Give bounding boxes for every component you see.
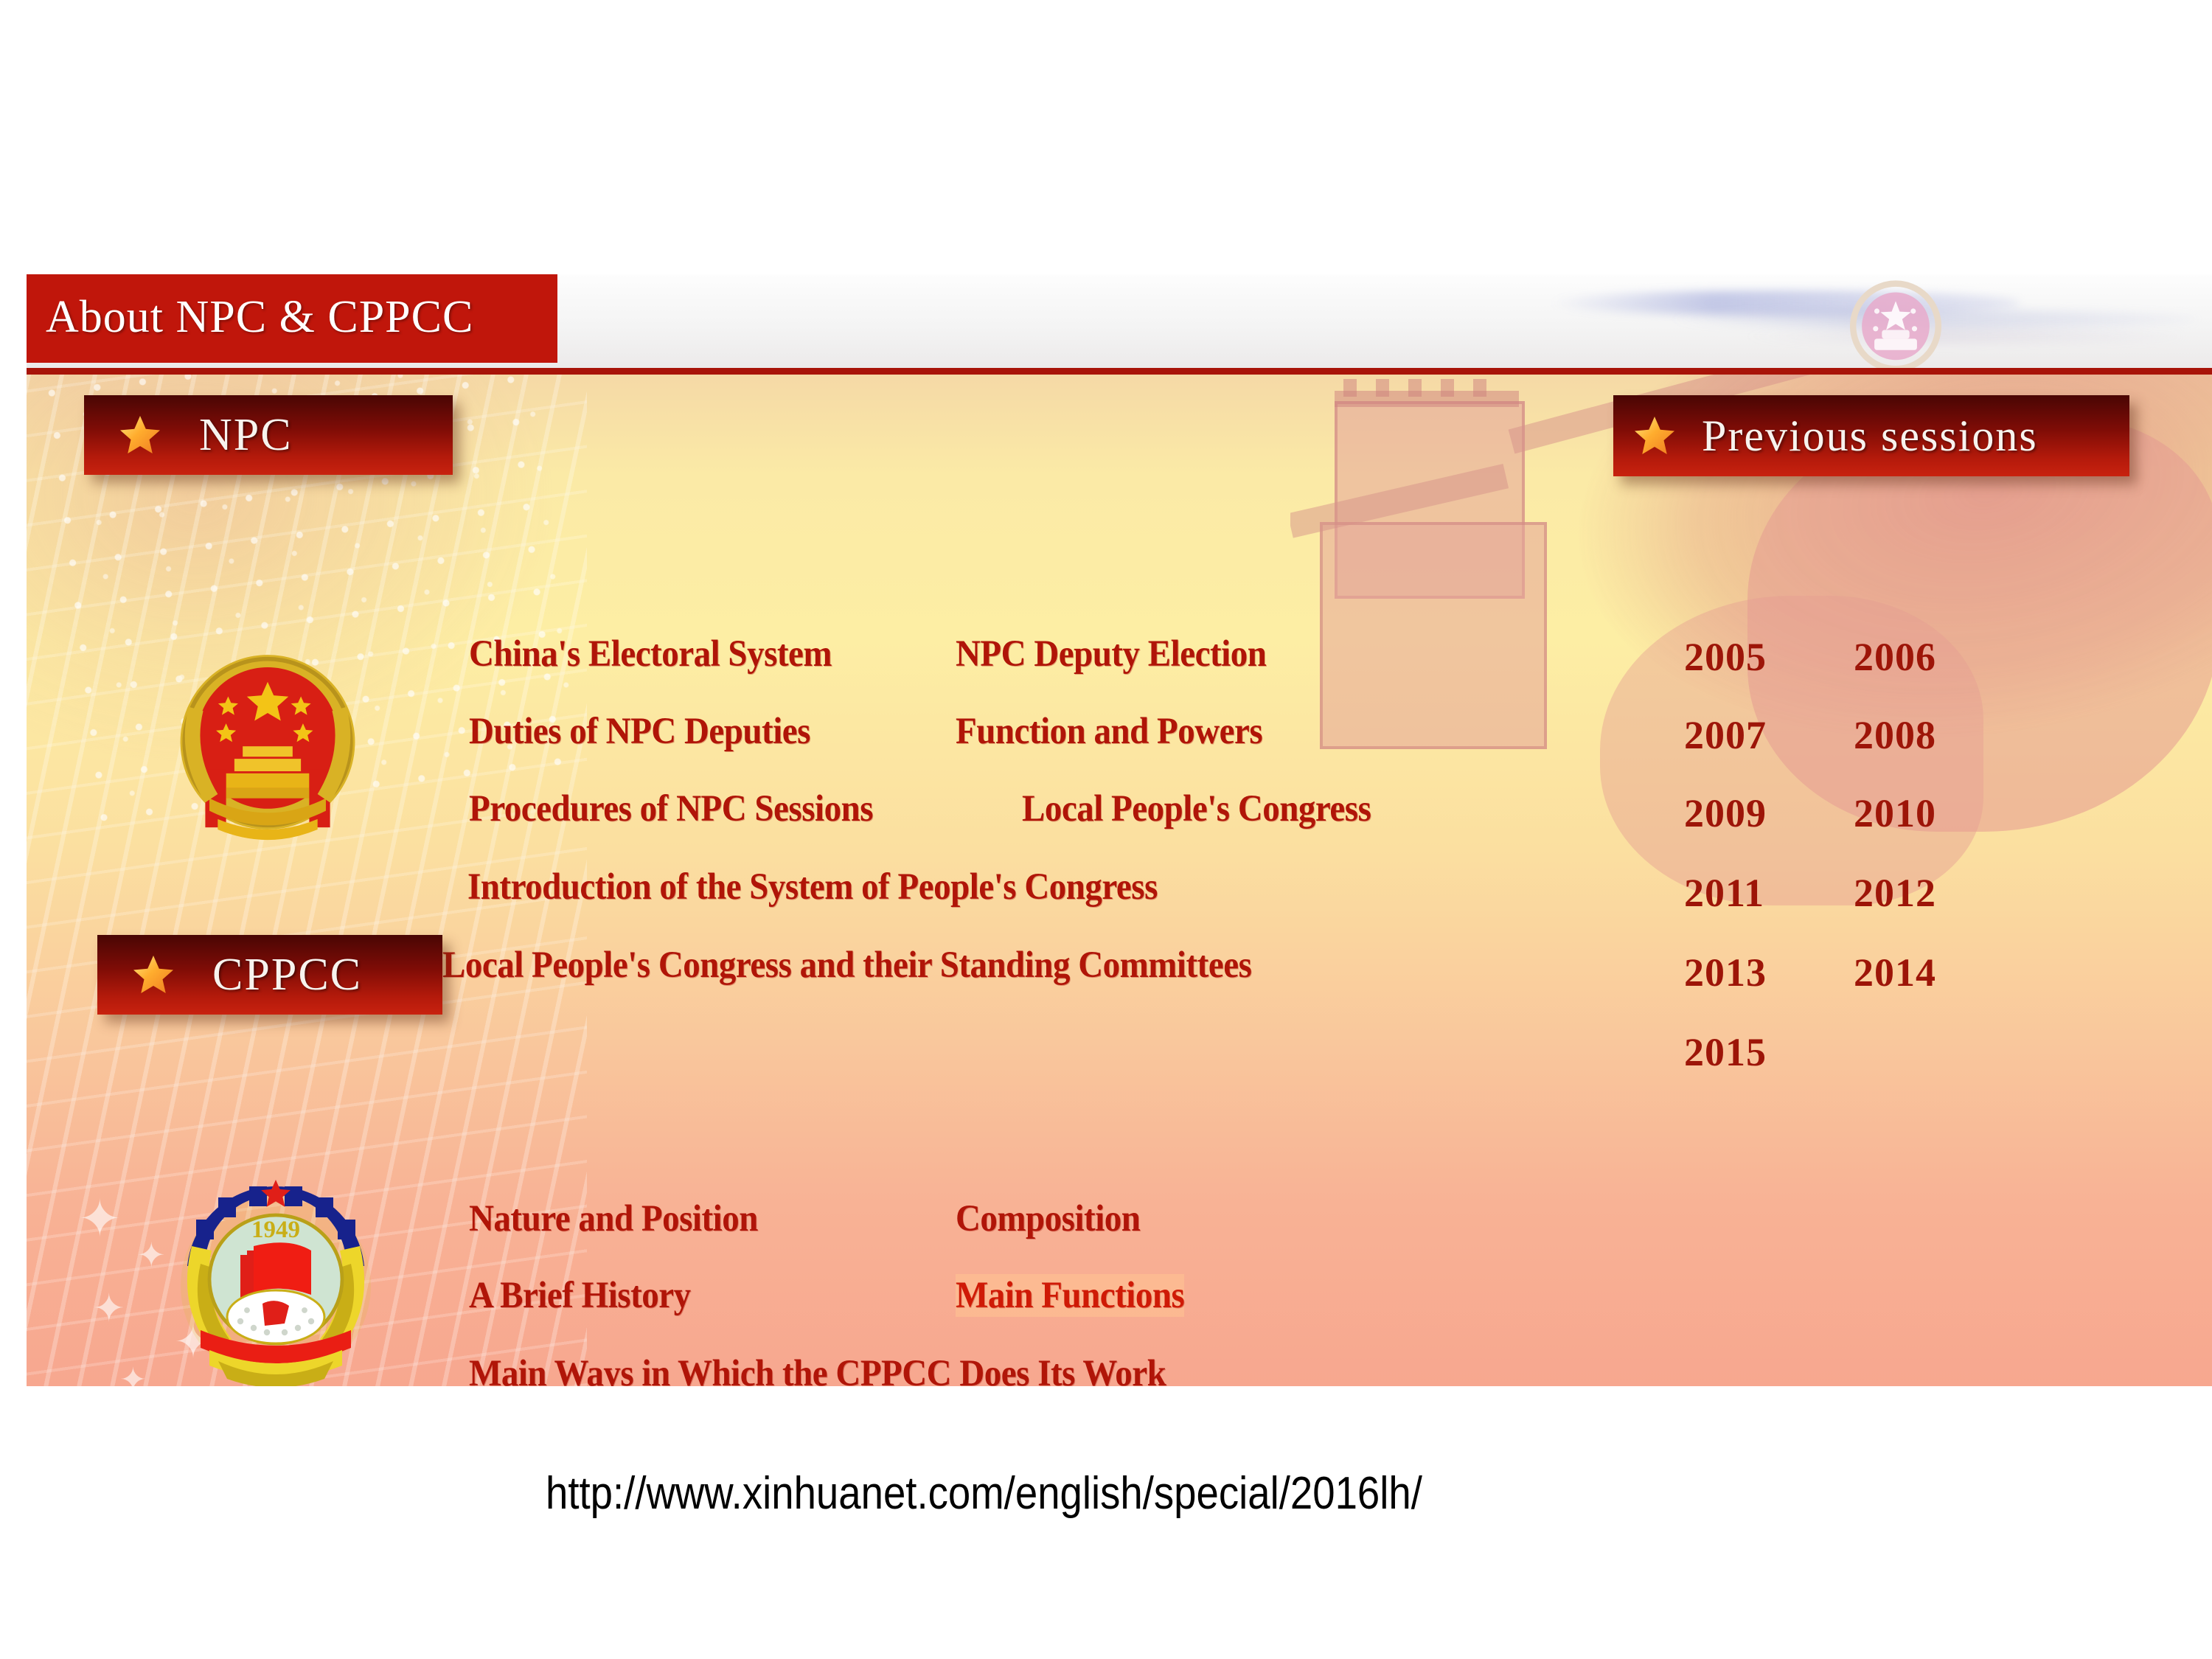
cppcc-emblem-icon: 1949 <box>165 1175 386 1386</box>
session-year-link[interactable]: 2007 <box>1684 712 1767 758</box>
npc-link[interactable]: Local People's Congress and their Standi… <box>442 944 1251 987</box>
npc-link[interactable]: Function and Powers <box>956 710 1262 753</box>
npc-link[interactable]: NPC Deputy Election <box>956 633 1266 675</box>
cppcc-link[interactable]: Nature and Position <box>469 1197 917 1240</box>
npc-link-row: Introduction of the System of People's C… <box>467 866 1217 908</box>
npc-link[interactable]: Local People's Congress <box>1022 787 1371 830</box>
npc-link-row: Procedures of NPC Sessions Local People'… <box>469 787 1402 830</box>
cppcc-link-row: A Brief History Main Functions <box>469 1274 1204 1317</box>
session-year-link[interactable]: 2006 <box>1854 634 1936 680</box>
xinhuanet-npc-cppcc-banner: About NPC & CPPCC ✦ ✦ ✦ ✦ ✦ ✦ ✦ ✦ <box>27 274 2212 1386</box>
npc-link-row: Duties of NPC Deputies Function and Powe… <box>469 710 1289 753</box>
section-header-previous-sessions[interactable]: Previous sessions <box>1613 395 2129 476</box>
banner-body: ✦ ✦ ✦ ✦ ✦ ✦ ✦ ✦ <box>27 375 2212 1386</box>
page-title-plate: About NPC & CPPCC <box>27 274 557 363</box>
cppcc-link-row: Main Ways in Which the CPPCC Does Its Wo… <box>469 1352 1226 1386</box>
section-header-cppcc[interactable]: CPPCC <box>97 935 442 1015</box>
section-label-cppcc: CPPCC <box>175 949 362 1001</box>
gold-star-icon <box>131 953 175 997</box>
session-year-link[interactable]: 2009 <box>1684 790 1767 836</box>
npc-link[interactable]: Duties of NPC Deputies <box>469 710 917 753</box>
npc-link-row: Local People's Congress and their Standi… <box>442 944 1322 987</box>
session-year-link[interactable]: 2008 <box>1854 712 1936 758</box>
cppcc-link-row: Nature and Position Composition <box>469 1197 1156 1240</box>
site-header: About NPC & CPPCC <box>27 274 2212 375</box>
china-national-emblem-watermark-icon <box>1833 274 1958 368</box>
section-label-previous-sessions: Previous sessions <box>1677 411 2038 462</box>
npc-link-row: China's Electoral System NPC Deputy Elec… <box>469 633 1293 675</box>
section-header-npc[interactable]: NPC <box>84 395 453 475</box>
npc-link[interactable]: Introduction of the System of People's C… <box>467 866 1158 908</box>
npc-link[interactable]: China's Electoral System <box>469 633 917 675</box>
session-year-link[interactable]: 2011 <box>1684 870 1764 916</box>
gold-star-icon <box>118 413 162 457</box>
session-year-link[interactable]: 2015 <box>1684 1029 1767 1075</box>
cppcc-link[interactable]: Main Functions <box>956 1274 1184 1317</box>
section-label-npc: NPC <box>162 409 293 462</box>
npc-link[interactable]: Procedures of NPC Sessions <box>469 787 978 830</box>
cppcc-link[interactable]: A Brief History <box>469 1274 917 1317</box>
source-url-caption: http://www.xinhuanet.com/english/special… <box>546 1467 1422 1520</box>
national-emblem-of-china-icon <box>161 644 375 852</box>
session-year-link[interactable]: 2014 <box>1854 950 1936 995</box>
session-year-link[interactable]: 2013 <box>1684 950 1767 995</box>
session-year-link[interactable]: 2010 <box>1854 790 1936 836</box>
header-watermark <box>1475 274 2212 368</box>
cppcc-link[interactable]: Main Ways in Which the CPPCC Does Its Wo… <box>469 1352 1166 1386</box>
svg-text:1949: 1949 <box>251 1217 300 1243</box>
cppcc-link[interactable]: Composition <box>956 1197 1140 1240</box>
session-year-link[interactable]: 2005 <box>1684 634 1767 680</box>
gold-star-icon <box>1632 414 1677 458</box>
page-title: About NPC & CPPCC <box>27 291 473 344</box>
session-year-link[interactable]: 2012 <box>1854 870 1936 916</box>
